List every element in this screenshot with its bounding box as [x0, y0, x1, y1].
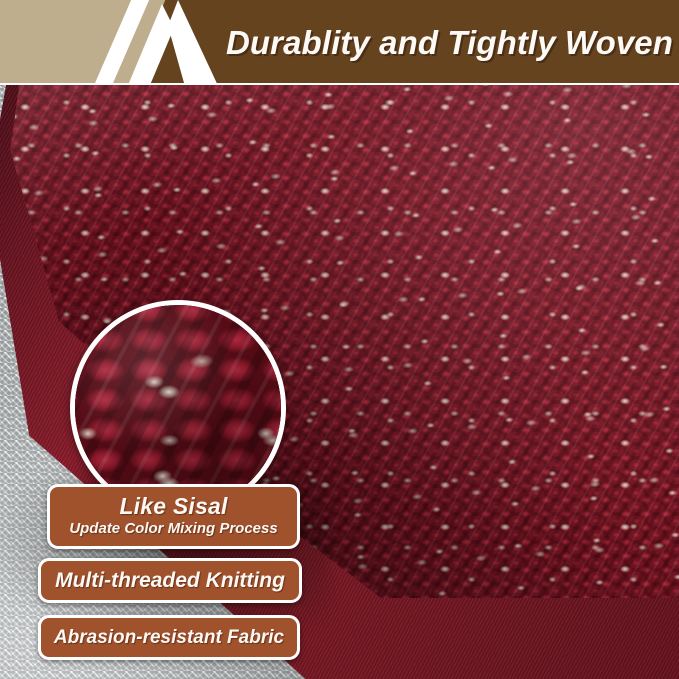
- magnified-shading-overlay: [75, 305, 281, 511]
- banner-title: Durablity and Tightly Woven: [196, 0, 673, 85]
- feature-badge-list: Like Sisal Update Color Mixing Process M…: [0, 484, 330, 660]
- banner-bottom-rule: [0, 83, 679, 85]
- badge-headline: Multi-threaded Knitting: [55, 569, 285, 592]
- header-banner: Durablity and Tightly Woven: [0, 0, 679, 85]
- product-feature-image: Durablity and Tightly Woven Like Sisal U…: [0, 0, 679, 679]
- feature-badge-abrasion-resistant-fabric: Abrasion-resistant Fabric: [38, 615, 300, 660]
- feature-badge-multi-threaded-knitting: Multi-threaded Knitting: [38, 558, 302, 603]
- badge-subline: Update Color Mixing Process: [58, 519, 289, 538]
- badge-headline: Abrasion-resistant Fabric: [54, 627, 284, 648]
- badge-headline: Like Sisal: [58, 493, 289, 520]
- feature-badge-like-sisal: Like Sisal Update Color Mixing Process: [47, 484, 300, 549]
